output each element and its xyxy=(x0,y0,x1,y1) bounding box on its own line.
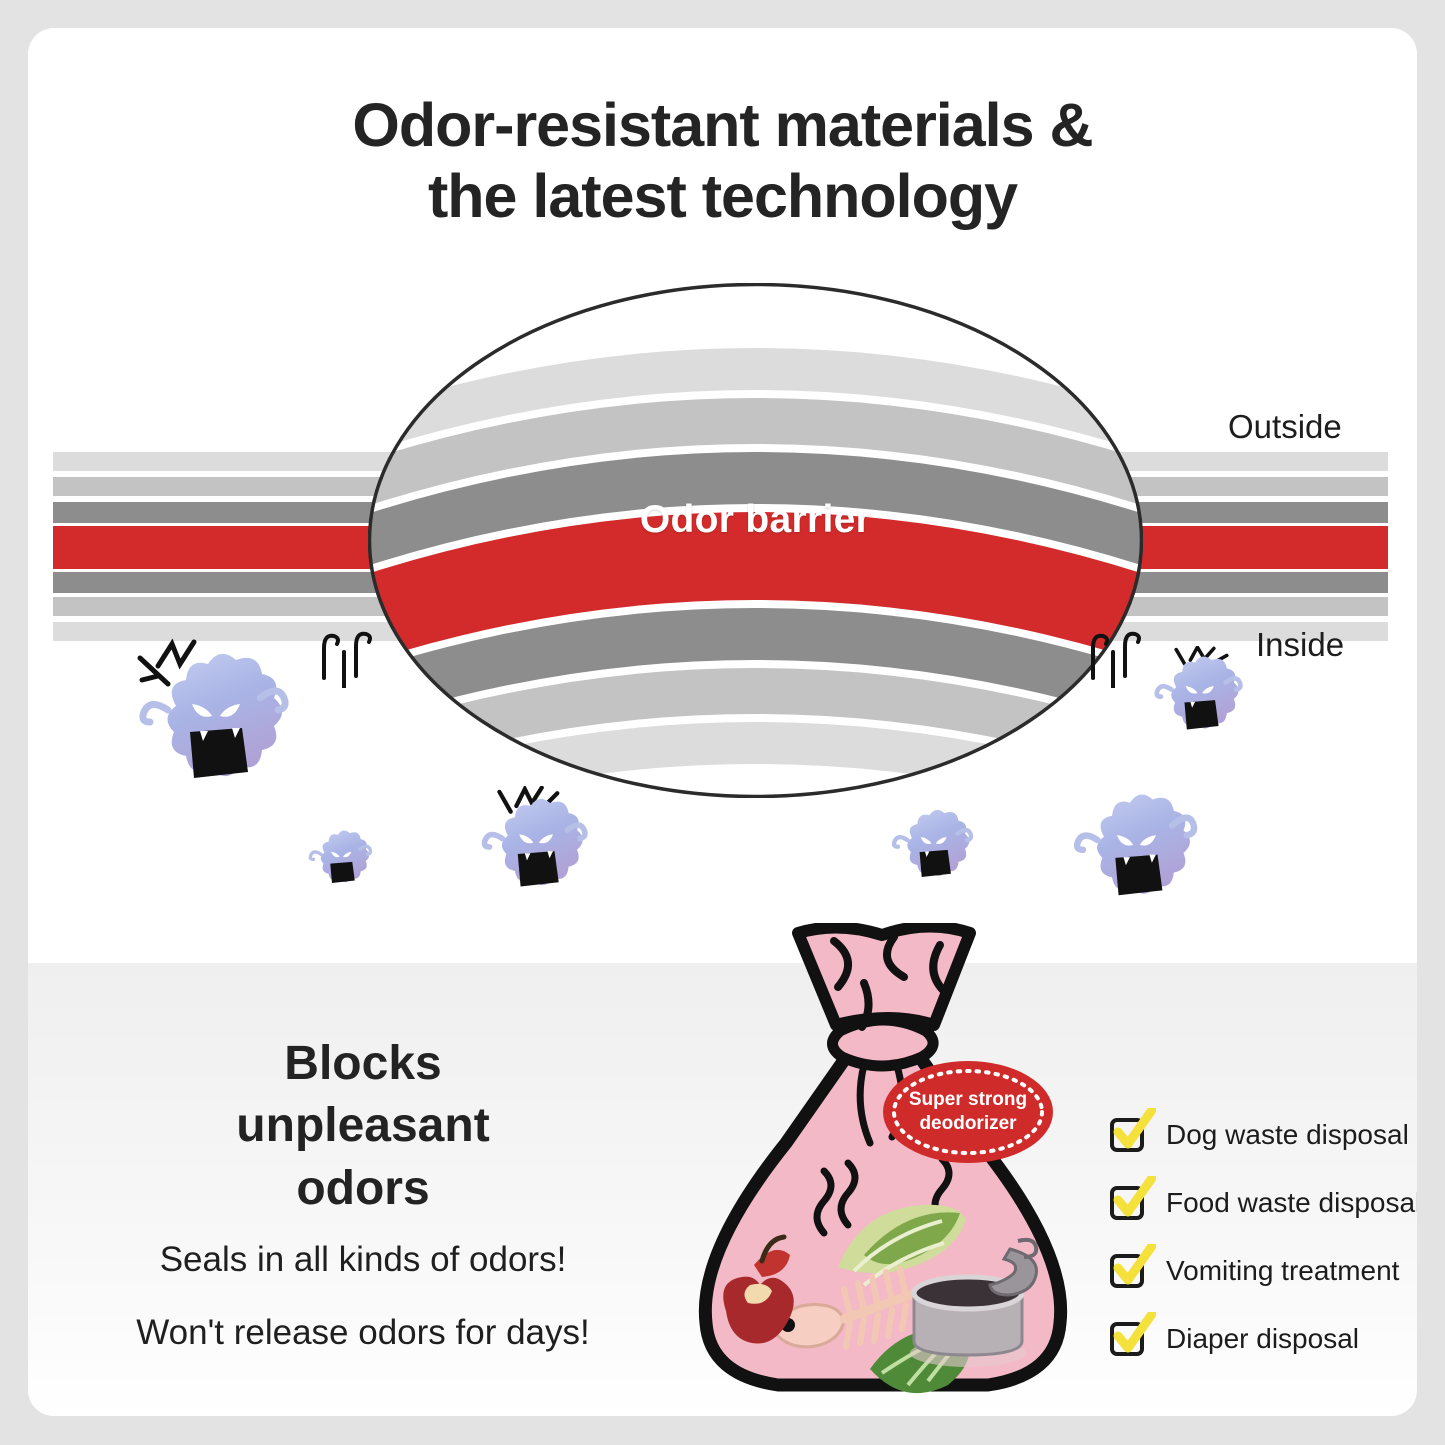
blocks-heading: Blocks unpleasant odors xyxy=(58,1033,668,1220)
germ-medium-right-icon xyxy=(886,800,978,895)
title-line-2: the latest technology xyxy=(28,161,1417,232)
checkbox-checked-icon[interactable] xyxy=(1108,1250,1150,1292)
germ-large-left-icon xyxy=(128,636,298,811)
checklist-label: Dog waste disposal xyxy=(1166,1119,1409,1151)
title-line-1: Odor-resistant materials & xyxy=(352,91,1092,159)
badge-line-1: Super strong xyxy=(909,1088,1027,1112)
germ-small-left-icon xyxy=(304,823,376,897)
magnifier-graphic xyxy=(368,283,1143,798)
blocks-heading-line-1: Blocks xyxy=(58,1033,668,1095)
germ-medium-center-icon xyxy=(474,786,594,910)
deodorizer-badge-text-wrap: Super strong deodorizer xyxy=(882,1060,1054,1164)
trash-bag-illustration xyxy=(658,923,1108,1413)
bottom-subtitle-1: Seals in all kinds of odors! xyxy=(58,1240,668,1280)
bottom-subtitle-2: Won't release odors for days! xyxy=(58,1313,668,1353)
content-card: Odor-resistant materials & the latest te… xyxy=(28,28,1417,1416)
blocks-heading-line-2: unpleasant xyxy=(58,1095,668,1157)
checkbox-checked-icon[interactable] xyxy=(1108,1114,1150,1156)
page-title: Odor-resistant materials & the latest te… xyxy=(28,90,1417,233)
checklist-label: Vomiting treatment xyxy=(1166,1255,1399,1287)
checkbox-checked-icon[interactable] xyxy=(1108,1318,1150,1360)
germ-large-right-icon xyxy=(1065,780,1203,922)
magnifier-ellipse: Odor barrier xyxy=(368,283,1143,798)
infographic-root: Odor-resistant materials & the latest te… xyxy=(0,0,1445,1445)
checklist-item[interactable]: Vomiting treatment xyxy=(1108,1237,1417,1305)
germ-medium-upper-right-icon xyxy=(1148,646,1248,749)
checklist-item[interactable]: Dog waste disposal xyxy=(1108,1101,1417,1169)
usage-checklist: Dog waste disposal Food waste disposal xyxy=(1108,1101,1417,1373)
checklist-item[interactable]: Diaper disposal xyxy=(1108,1305,1417,1373)
inside-label: Inside xyxy=(1256,626,1344,664)
blocks-heading-line-3: odors xyxy=(58,1158,668,1220)
checklist-item[interactable]: Food waste disposal xyxy=(1108,1169,1417,1237)
odor-wave-left-icon xyxy=(316,626,372,688)
outside-label: Outside xyxy=(1228,408,1342,446)
checklist-label: Diaper disposal xyxy=(1166,1323,1359,1355)
checklist-label: Food waste disposal xyxy=(1166,1187,1417,1219)
badge-line-2: deodorizer xyxy=(919,1112,1016,1136)
checkbox-checked-icon[interactable] xyxy=(1108,1182,1150,1224)
odor-wave-right-icon xyxy=(1085,626,1141,688)
